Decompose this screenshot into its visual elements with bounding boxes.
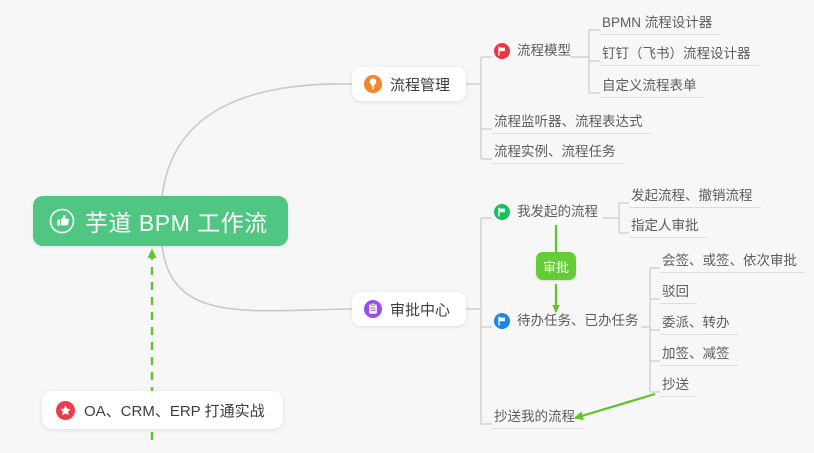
leaf-node-reject[interactable]: 驳回 [660,278,697,304]
leaf-node-assignee-approval[interactable]: 指定人审批 [629,212,707,238]
leaf-label-reject: 驳回 [662,280,689,300]
flag-circle-icon-red [494,43,510,59]
leaf-node-countersign[interactable]: 会签、或签、依次审批 [660,247,805,273]
leaf-label-my-started-process: 我发起的流程 [517,200,598,220]
clipboard-circle-icon [364,300,382,318]
root-node[interactable]: 芋道 BPM 工作流 [33,196,288,246]
leaf-label-countersign: 会签、或签、依次审批 [662,249,797,269]
leaf-node-cc-to-me-process[interactable]: 抄送我的流程 [492,403,583,429]
leaf-node-add-remove-sign[interactable]: 加签、减签 [660,340,738,366]
flag-circle-icon-blue [494,313,510,329]
leaf-node-instance-task[interactable]: 流程实例、流程任务 [492,138,624,164]
integration-card[interactable]: OA、CRM、ERP 打通实战 [42,391,283,429]
leaf-node-process-model[interactable]: 流程模型 [492,36,579,62]
topic-label-process-management: 流程管理 [390,74,450,95]
approval-badge[interactable]: 审批 [536,252,576,280]
leaf-node-cc[interactable]: 抄送 [660,371,697,397]
leaf-node-todo-done-task[interactable]: 待办任务、已办任务 [492,306,647,332]
leaf-node-dingtalk-feishu-designer[interactable]: 钉钉（飞书）流程设计器 [600,40,759,66]
topic-label-approval-center: 审批中心 [390,299,450,320]
flag-circle-icon-green [494,204,510,220]
cc-to-cc-process-arrow [575,394,655,418]
edge-root-to-approval-center [162,246,352,311]
leaf-label-dingtalk-feishu-designer: 钉钉（飞书）流程设计器 [602,42,751,62]
edge-root-to-process-management [162,84,352,197]
leaf-node-my-started-process[interactable]: 我发起的流程 [492,197,606,223]
leaf-node-bpmn-designer[interactable]: BPMN 流程设计器 [600,9,720,35]
thumbs-up-circle-icon [49,208,75,234]
star-circle-icon [56,401,75,420]
leaf-node-delegate-transfer[interactable]: 委派、转办 [660,309,738,335]
leaf-label-assignee-approval: 指定人审批 [631,214,699,234]
topic-node-approval-center[interactable]: 审批中心 [352,292,466,326]
leaf-label-todo-done-task: 待办任务、已办任务 [517,309,639,329]
leaf-label-delegate-transfer: 委派、转办 [662,311,730,331]
lightbulb-circle-icon [364,75,382,93]
leaf-label-cc-to-me-process: 抄送我的流程 [494,405,575,425]
leaf-node-start-cancel-process[interactable]: 发起流程、撤销流程 [629,182,761,208]
leaf-label-start-cancel-process: 发起流程、撤销流程 [631,184,753,204]
integration-card-label: OA、CRM、ERP 打通实战 [84,400,265,421]
leaf-label-listener-expression: 流程监听器、流程表达式 [494,110,643,130]
root-label: 芋道 BPM 工作流 [85,204,268,238]
leaf-label-process-model: 流程模型 [517,39,571,59]
leaf-node-listener-expression[interactable]: 流程监听器、流程表达式 [492,108,651,134]
leaf-label-cc: 抄送 [662,373,689,393]
leaf-label-bpmn-designer: BPMN 流程设计器 [602,11,712,31]
leaf-label-custom-process-form: 自定义流程表单 [602,74,697,94]
leaf-label-add-remove-sign: 加签、减签 [662,342,730,362]
approval-badge-label: 审批 [543,257,569,276]
mindmap-canvas: 芋道 BPM 工作流 流程管理 流程模型 BPMN 流程设计器 钉钉（飞书）流程 [0,0,814,453]
topic-node-process-management[interactable]: 流程管理 [352,67,466,101]
leaf-node-custom-process-form[interactable]: 自定义流程表单 [600,72,705,98]
leaf-label-instance-task: 流程实例、流程任务 [494,140,616,160]
